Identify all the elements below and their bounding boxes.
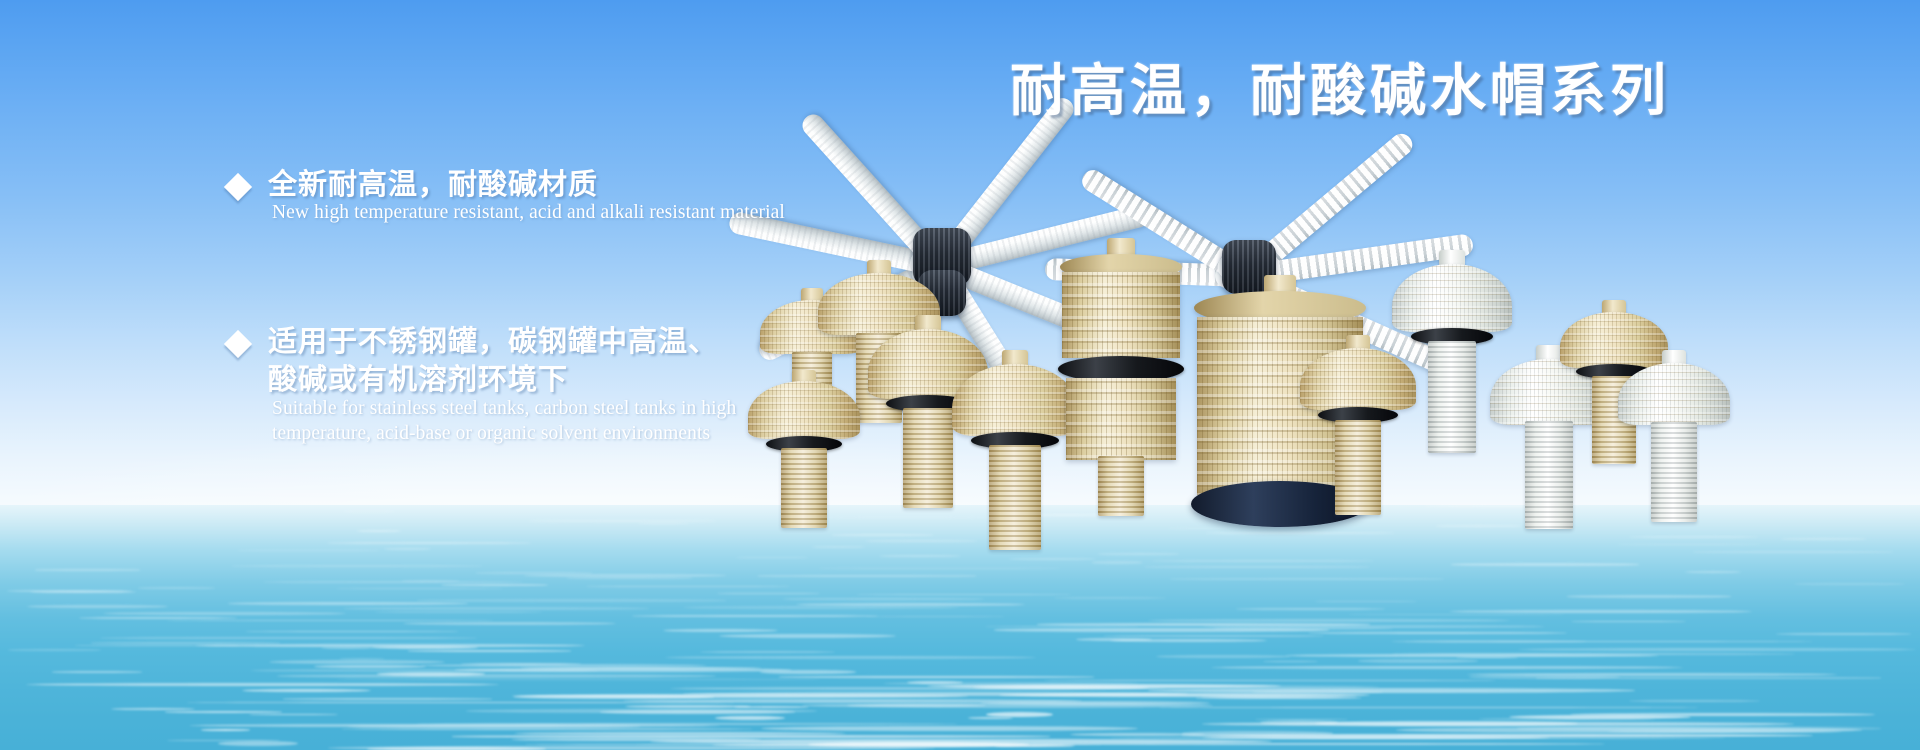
ripple-line xyxy=(968,717,1013,720)
feature-title-en: New high temperature resistant, acid and… xyxy=(272,201,1048,226)
diamond-bullet-icon xyxy=(224,330,252,358)
ripple-line xyxy=(1148,619,1510,622)
strainer-cap xyxy=(1618,363,1730,425)
ripple-line xyxy=(165,711,282,713)
ripple-line xyxy=(1479,718,1655,720)
ripple-line xyxy=(111,708,195,710)
ripple-line xyxy=(994,628,1329,631)
ripple-line xyxy=(1449,610,1752,613)
feature-title-en: Suitable for stainless steel tanks, carb… xyxy=(272,397,1048,447)
ripple-line xyxy=(166,620,494,621)
ripple-line xyxy=(529,520,716,522)
ripple-line xyxy=(138,587,215,589)
filter-barrel xyxy=(1062,272,1180,358)
ripple-line xyxy=(52,671,142,673)
ripple-line xyxy=(1776,633,1911,635)
ripple-line xyxy=(1518,648,1916,651)
ripple-line xyxy=(1263,661,1318,662)
ripple-line xyxy=(760,670,856,674)
ripple-line xyxy=(802,704,986,707)
ripple-line xyxy=(865,616,1005,617)
ripple-line xyxy=(341,728,753,730)
ripple-line xyxy=(566,577,693,579)
ripple-line xyxy=(879,555,961,557)
threaded-stem xyxy=(1335,420,1381,515)
ripple-line xyxy=(665,656,1036,659)
ripple-line xyxy=(27,605,168,608)
ripple-line xyxy=(995,745,1074,747)
ripple-line xyxy=(277,674,716,678)
ripple-line xyxy=(218,741,298,747)
barrel-ribs xyxy=(1062,272,1180,358)
ripple-line xyxy=(856,594,1072,596)
ripple-line xyxy=(1629,700,1760,702)
threaded-stem xyxy=(989,445,1041,550)
ripple-line xyxy=(237,550,380,552)
strainer-nozzle-white xyxy=(1618,350,1730,570)
ripple-line xyxy=(683,606,960,609)
ripple-line xyxy=(242,689,371,692)
ripple-line xyxy=(228,602,468,605)
ripple-line xyxy=(625,705,751,708)
ripple-line xyxy=(632,615,878,617)
ripple-line xyxy=(314,665,426,669)
ripple-line xyxy=(717,593,820,595)
ripple-line xyxy=(1110,639,1267,642)
ripple-line xyxy=(403,622,616,625)
ripple-line xyxy=(336,588,503,589)
ripple-line xyxy=(1098,553,1179,555)
ripple-line xyxy=(719,634,896,638)
ripple-line xyxy=(245,631,459,632)
ripple-line xyxy=(783,598,984,600)
ripple-line xyxy=(663,629,778,632)
ripple-line xyxy=(357,530,401,532)
ripple-line xyxy=(372,646,478,650)
ripple-line xyxy=(638,523,689,524)
ripple-line xyxy=(417,599,726,602)
ripple-line xyxy=(344,607,649,610)
cap-ribs xyxy=(1392,264,1512,332)
strainer-cap xyxy=(1300,348,1416,410)
ripple-line xyxy=(670,687,1166,691)
ripple-line xyxy=(715,716,785,720)
ripple-line xyxy=(1567,595,1731,598)
ripple-line xyxy=(700,651,835,653)
ripple-line xyxy=(734,706,809,708)
ripple-line xyxy=(263,581,523,583)
feature-bullet-2: 适用于不锈钢罐，碳钢罐中高温、 酸碱或有机溶剂环境下 Suitable for … xyxy=(228,322,1048,446)
ripple-line xyxy=(779,676,1094,678)
feature-title-cn: 全新耐高温，耐酸碱材质 xyxy=(268,165,598,203)
strainer-nozzle xyxy=(1300,335,1416,570)
ripple-line xyxy=(1211,666,1683,669)
feature-bullet-list: 全新耐高温，耐酸碱材质 New high temperature resista… xyxy=(228,165,1048,447)
cap-ribs xyxy=(1300,348,1416,410)
ripple-line xyxy=(452,735,1050,738)
ripple-line xyxy=(35,569,140,570)
ripple-line xyxy=(321,647,374,649)
ripple-line xyxy=(1054,597,1166,599)
ripple-line xyxy=(375,611,542,613)
ripple-line xyxy=(384,548,431,550)
ripple-line xyxy=(74,645,239,646)
feature-bullet-1: 全新耐高温，耐酸碱材质 New high temperature resista… xyxy=(228,165,1048,226)
ripple-line xyxy=(201,729,250,731)
diamond-bullet-icon xyxy=(224,173,252,201)
ripple-line xyxy=(441,584,548,586)
ripple-line xyxy=(514,695,714,699)
ripple-line xyxy=(8,649,101,651)
ripple-line xyxy=(1315,601,1417,603)
ripple-line xyxy=(1536,677,1881,678)
ripple-line xyxy=(1358,659,1478,663)
ripple-line xyxy=(344,511,394,513)
product-banner: 耐高温，耐酸碱水帽系列 全新耐高温，耐酸碱材质 New high tempera… xyxy=(0,0,1920,750)
ripple-line xyxy=(586,586,790,588)
banner-headline: 耐高温，耐酸碱水帽系列 xyxy=(1010,60,1670,124)
ripple-line xyxy=(761,726,1138,732)
ripple-line xyxy=(103,612,346,615)
ripple-line xyxy=(985,626,1139,627)
ripple-line xyxy=(1044,680,1496,682)
ripple-line xyxy=(1456,657,1518,658)
ripple-line xyxy=(1196,697,1361,699)
ripple-line xyxy=(758,575,976,576)
ripple-line xyxy=(231,565,483,567)
ripple-line xyxy=(1103,635,1324,637)
ripple-line xyxy=(408,650,571,652)
ripple-line xyxy=(283,698,492,700)
threaded-stem xyxy=(1098,456,1144,516)
ripple-line xyxy=(1571,621,1686,622)
ripple-line xyxy=(26,683,499,686)
ripple-line xyxy=(1685,571,1741,573)
ripple-line xyxy=(1030,743,1605,745)
ripple-line xyxy=(269,660,445,664)
ripple-line xyxy=(336,679,821,681)
ripple-line xyxy=(30,591,136,593)
ripple-line xyxy=(185,702,736,703)
ripple-line xyxy=(600,710,795,714)
ripple-line xyxy=(1308,632,1567,634)
strainer-cap xyxy=(1392,264,1512,332)
ripple-line xyxy=(1794,583,1905,585)
ripple-line xyxy=(100,637,477,640)
ripple-line xyxy=(327,542,531,544)
threaded-stem xyxy=(1428,341,1476,453)
cap-ribs xyxy=(1618,363,1730,425)
threaded-stem xyxy=(1651,422,1697,522)
ripple-line xyxy=(1348,614,1565,615)
ripple-line xyxy=(1157,707,1700,708)
ribbed-filter-element xyxy=(1056,238,1186,518)
filter-barrel xyxy=(1066,378,1176,460)
ripple-line xyxy=(249,714,338,715)
ripple-line xyxy=(1170,578,1444,580)
feature-title-cn: 适用于不锈钢罐，碳钢罐中高温、 酸碱或有机溶剂环境下 xyxy=(268,322,718,399)
threaded-stem xyxy=(781,448,827,528)
barrel-ribs xyxy=(1066,378,1176,460)
ripple-line xyxy=(1156,655,1291,659)
ripple-line xyxy=(1092,561,1142,563)
ripple-line xyxy=(1236,608,1385,610)
